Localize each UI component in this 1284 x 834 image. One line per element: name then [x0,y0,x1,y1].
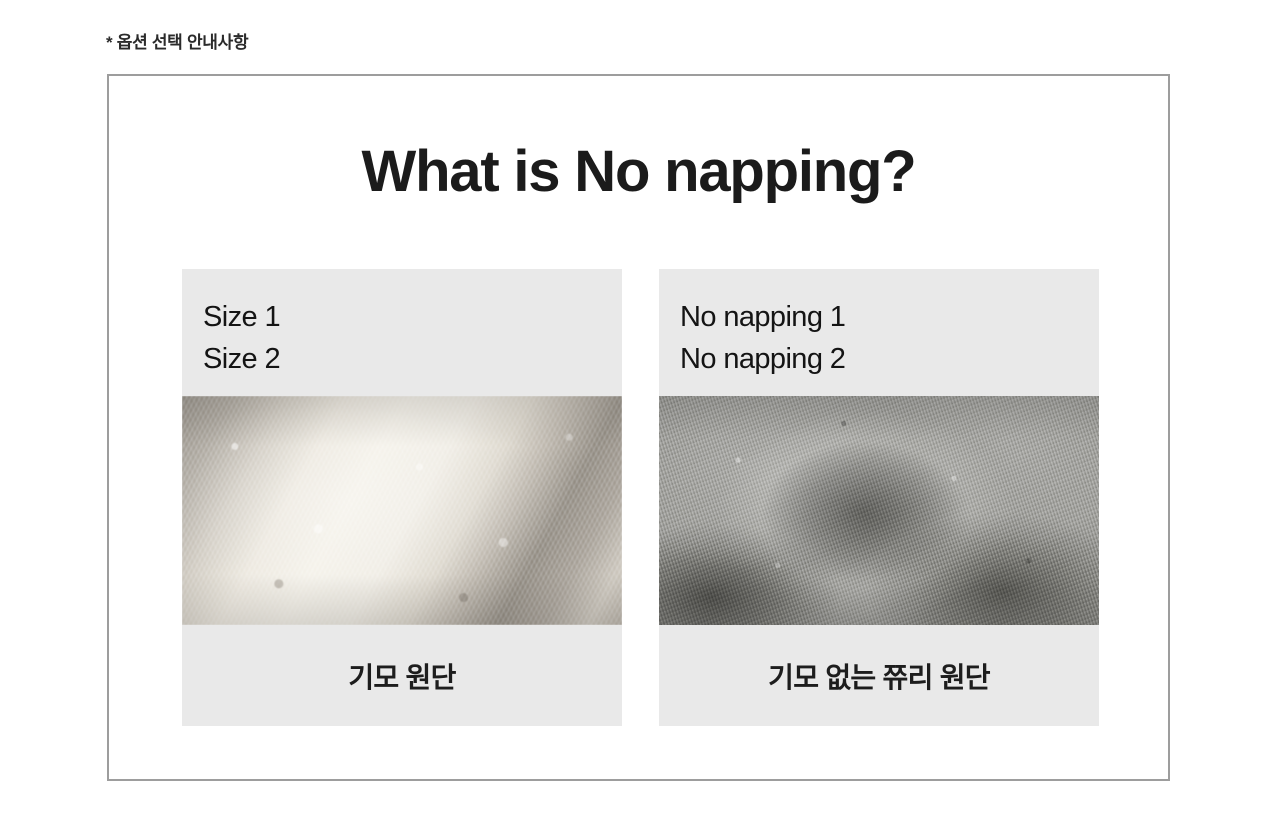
fabric-card-no-napping-labels: No napping 1 No napping 2 [659,269,1099,396]
napped-fleece-texture [182,396,622,625]
fabric-card-napped-label-2: Size 2 [203,338,622,380]
terry-knit-fabric-photo [659,396,1099,625]
fabric-card-napped: Size 1 Size 2 기모 원단 [182,269,622,726]
fabric-card-no-napping-label-1: No napping 1 [680,296,1099,338]
fabric-card-napped-labels: Size 1 Size 2 [182,269,622,396]
fabric-comparison-row: Size 1 Size 2 기모 원단 No napping 1 No napp… [182,269,1099,726]
napped-fleece-fabric-photo [182,396,622,625]
fabric-card-napped-label-1: Size 1 [203,296,622,338]
product-option-guide-page: * 옵션 선택 안내사항 What is No napping? Size 1 … [0,0,1284,834]
page-title: What is No napping? [109,142,1168,203]
option-guide-note: * 옵션 선택 안내사항 [106,28,248,53]
fabric-card-no-napping-caption: 기모 없는 쮸리 원단 [659,625,1099,726]
fabric-card-no-napping-label-2: No napping 2 [680,338,1099,380]
fabric-card-napped-caption: 기모 원단 [182,625,622,726]
info-panel: What is No napping? Size 1 Size 2 기모 원단 … [107,74,1170,781]
fabric-card-no-napping: No napping 1 No napping 2 기모 없는 쮸리 원단 [659,269,1099,726]
terry-knit-texture [659,396,1099,625]
